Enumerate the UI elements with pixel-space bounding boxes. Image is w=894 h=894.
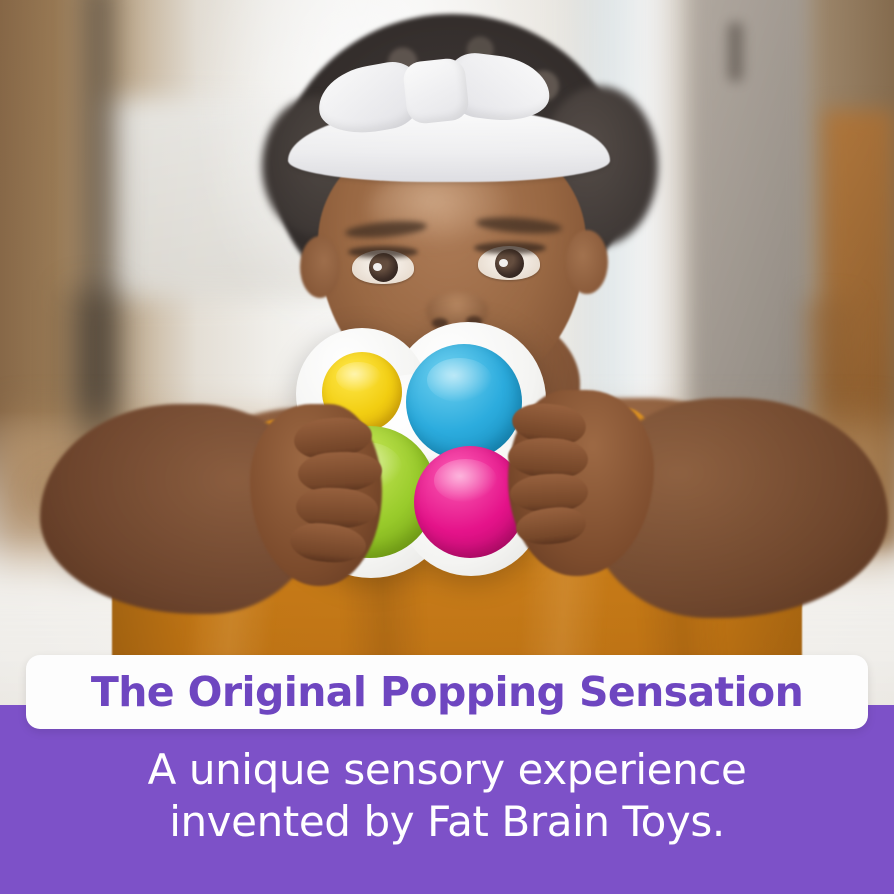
- right-eyelash: [474, 242, 546, 254]
- right-ear: [566, 230, 608, 294]
- bow-knot: [402, 57, 470, 125]
- left-eye-glint: [373, 263, 382, 271]
- left-eyelash: [348, 246, 418, 258]
- right-eye-glint: [499, 259, 508, 267]
- product-promo-image: A unique sensory experience invented by …: [0, 0, 894, 894]
- headline-card: The Original Popping Sensation: [26, 655, 868, 729]
- subtitle-block: A unique sensory experience invented by …: [0, 744, 894, 848]
- blue-bubble[interactable]: [406, 344, 522, 460]
- subtitle-line-2: invented by Fat Brain Toys.: [34, 796, 860, 848]
- subtitle-line-1: A unique sensory experience: [34, 744, 860, 796]
- left-ear: [300, 236, 340, 298]
- blue-bubble-highlight: [427, 358, 492, 402]
- magenta-bubble-highlight: [434, 459, 497, 502]
- yellow-bubble-highlight: [336, 362, 381, 392]
- page-title: The Original Popping Sensation: [91, 669, 803, 715]
